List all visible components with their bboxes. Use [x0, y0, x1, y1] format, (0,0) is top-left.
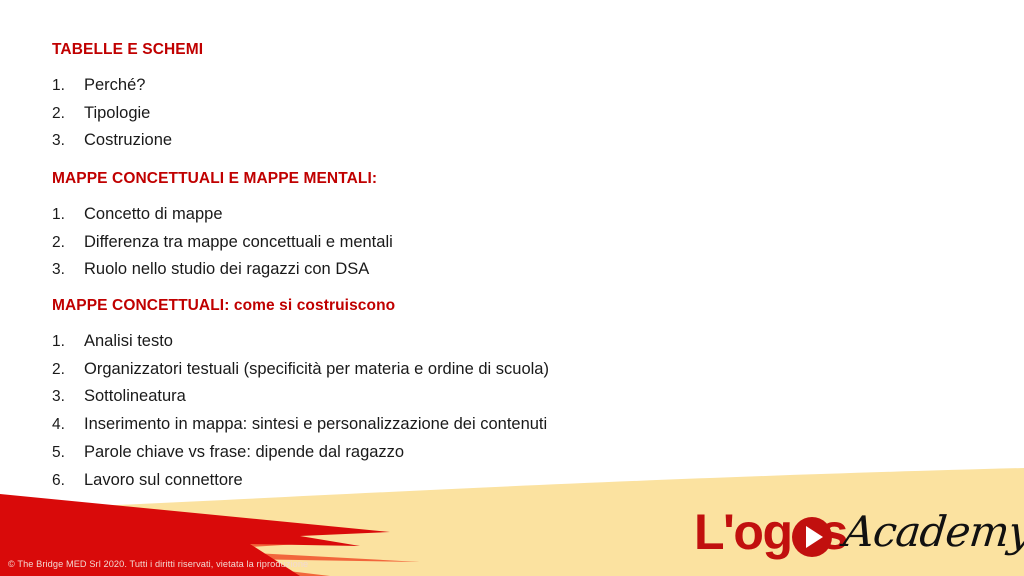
section-heading-tabelle-e-schemi: TABELLE E SCHEMI: [52, 41, 203, 58]
section-list-tabelle-e-schemi: 1. Perché? 2. Tipologie 3. Costruzione: [52, 72, 172, 155]
copyright-notice: © The Bridge MED Srl 2020. Tutti i dirit…: [8, 559, 308, 569]
list-item-number: 3.: [52, 384, 84, 410]
list-item-label: Organizzatori testuali (specificità per …: [84, 356, 549, 384]
list-item: 2. Organizzatori testuali (specificità p…: [52, 356, 549, 384]
list-item-label: Differenza tra mappe concettuali e menta…: [84, 229, 393, 257]
list-item-number: 4.: [52, 412, 84, 438]
list-item-number: 5.: [52, 440, 84, 466]
list-item-label: Analisi testo: [84, 328, 173, 356]
list-item-label: Ruolo nello studio dei ragazzi con DSA: [84, 256, 369, 284]
slide-canvas: TABELLE E SCHEMI 1. Perché? 2. Tipologie…: [0, 0, 1024, 576]
section-heading-mappe-concettuali-come-si-costruiscono: MAPPE CONCETTUALI: come si costruiscono: [52, 297, 395, 314]
list-item: 3. Sottolineatura: [52, 383, 549, 411]
list-item: 4. Inserimento in mappa: sintesi e perso…: [52, 411, 549, 439]
list-item-number: 1.: [52, 73, 84, 99]
list-item-number: 2.: [52, 357, 84, 383]
list-item-number: 2.: [52, 230, 84, 256]
list-item-number: 3.: [52, 257, 84, 283]
list-item-label: Costruzione: [84, 127, 172, 155]
list-item-label: Parole chiave vs frase: dipende dal raga…: [84, 439, 404, 467]
list-item-label: Inserimento in mappa: sintesi e personal…: [84, 411, 547, 439]
list-item: 2. Differenza tra mappe concettuali e me…: [52, 229, 393, 257]
logos-academy-logo: L'ogos Academy: [694, 503, 1024, 571]
list-item: 3. Costruzione: [52, 127, 172, 155]
list-item: 1. Analisi testo: [52, 328, 549, 356]
list-item: 5. Parole chiave vs frase: dipende dal r…: [52, 439, 549, 467]
list-item-number: 1.: [52, 329, 84, 355]
list-item-number: 3.: [52, 128, 84, 154]
list-item-label: Tipologie: [84, 100, 150, 128]
list-item: 1. Concetto di mappe: [52, 201, 393, 229]
section-list-mappe-concettuali-e-mappe-mentali: 1. Concetto di mappe 2. Differenza tra m…: [52, 201, 393, 284]
list-item: 1. Perché?: [52, 72, 172, 100]
list-item-label: Perché?: [84, 72, 145, 100]
section-heading-mappe-concettuali-e-mappe-mentali: MAPPE CONCETTUALI E MAPPE MENTALI:: [52, 170, 377, 187]
list-item-number: 2.: [52, 101, 84, 127]
list-item-label: Concetto di mappe: [84, 201, 223, 229]
list-item-label: Sottolineatura: [84, 383, 186, 411]
list-item: 2. Tipologie: [52, 100, 172, 128]
logo-academy-text: Academy: [842, 511, 1024, 553]
play-icon: [792, 517, 832, 557]
list-item-number: 1.: [52, 202, 84, 228]
list-item: 3. Ruolo nello studio dei ragazzi con DS…: [52, 256, 393, 284]
